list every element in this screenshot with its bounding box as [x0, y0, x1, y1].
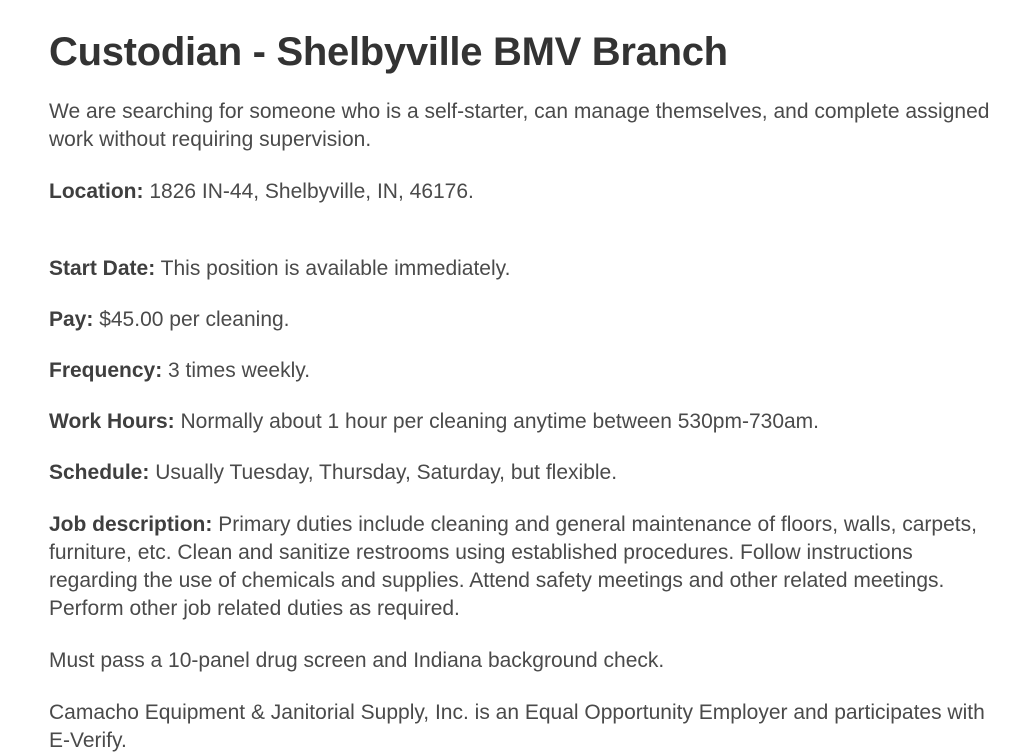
spacer [49, 206, 990, 255]
job-description-label: Job description: [49, 513, 212, 536]
spacer [49, 385, 990, 408]
page-title: Custodian - Shelbyville BMV Branch [49, 28, 990, 76]
spacer [49, 76, 990, 98]
job-description-block: Job description: Primary duties include … [49, 511, 990, 623]
spacer [49, 154, 990, 178]
spacer [49, 283, 990, 306]
screening-notice: Must pass a 10-panel drug screen and Ind… [49, 647, 990, 675]
schedule-line: Schedule: Usually Tuesday, Thursday, Sat… [49, 459, 990, 487]
pay-value: $45.00 per cleaning. [99, 308, 289, 331]
pay-line: Pay: $45.00 per cleaning. [49, 306, 990, 334]
spacer [49, 436, 990, 459]
pay-label: Pay: [49, 308, 93, 331]
location-label: Location: [49, 180, 144, 203]
frequency-value: 3 times weekly. [168, 359, 310, 382]
location-line: Location: 1826 IN-44, Shelbyville, IN, 4… [49, 178, 990, 206]
frequency-line: Frequency: 3 times weekly. [49, 357, 990, 385]
work-hours-label: Work Hours: [49, 410, 175, 433]
start-date-line: Start Date: This position is available i… [49, 255, 990, 283]
intro-paragraph: We are searching for someone who is a se… [49, 98, 990, 154]
work-hours-value: Normally about 1 hour per cleaning anyti… [180, 410, 819, 433]
location-value: 1826 IN-44, Shelbyville, IN, 46176. [149, 180, 474, 203]
start-date-value: This position is available immediately. [161, 257, 511, 280]
schedule-value: Usually Tuesday, Thursday, Saturday, but… [155, 461, 617, 484]
spacer [49, 334, 990, 357]
spacer [49, 487, 990, 511]
spacer [49, 675, 990, 699]
frequency-label: Frequency: [49, 359, 162, 382]
work-hours-line: Work Hours: Normally about 1 hour per cl… [49, 408, 990, 436]
job-posting-document: Custodian - Shelbyville BMV Branch We ar… [0, 0, 1024, 747]
start-date-label: Start Date: [49, 257, 155, 280]
schedule-label: Schedule: [49, 461, 149, 484]
spacer [49, 623, 990, 647]
